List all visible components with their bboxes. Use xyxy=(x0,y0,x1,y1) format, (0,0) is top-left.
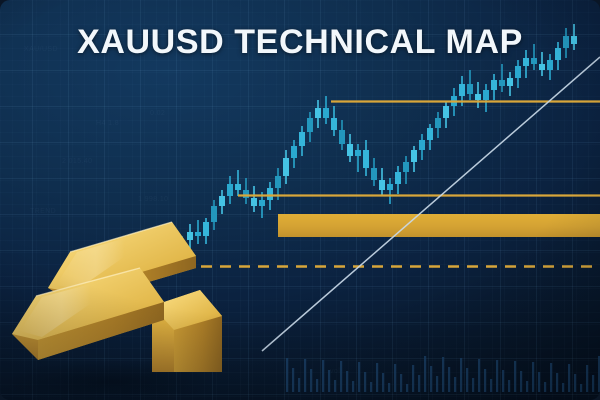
candle-body xyxy=(491,80,497,90)
volume-bar xyxy=(466,368,468,392)
candle-body xyxy=(339,130,345,144)
volume-bar xyxy=(346,371,348,392)
candle-body xyxy=(371,168,377,180)
candle-body xyxy=(227,184,233,196)
candle-body xyxy=(259,200,265,206)
volume-bar xyxy=(442,357,444,392)
volume-bar xyxy=(580,384,582,392)
volume-bar xyxy=(538,372,540,392)
volume-bar xyxy=(322,360,324,392)
volume-bar xyxy=(406,384,408,392)
candle-body xyxy=(331,118,337,130)
candle-body xyxy=(203,222,209,236)
candle-body xyxy=(475,94,481,100)
candle-body xyxy=(411,150,417,162)
volume-bar xyxy=(424,356,426,392)
volume-bar xyxy=(496,360,498,392)
candle-body xyxy=(483,90,489,100)
volume-bar xyxy=(388,383,390,392)
volume-bar xyxy=(358,362,360,392)
candle-body xyxy=(443,106,449,118)
volume-bar xyxy=(370,382,372,392)
candle-body xyxy=(307,118,313,132)
volume-bar xyxy=(412,365,414,392)
candle-body xyxy=(363,150,369,168)
candle-body xyxy=(267,188,273,200)
volume-bar xyxy=(502,370,504,392)
volume-bar xyxy=(532,362,534,392)
volume-bar xyxy=(436,376,438,392)
volume-bar xyxy=(304,359,306,392)
volume-bar xyxy=(394,364,396,392)
volume-bar xyxy=(586,365,588,392)
candle-body xyxy=(275,176,281,188)
volume-bar xyxy=(484,369,486,392)
candle-body xyxy=(419,140,425,150)
candle-body xyxy=(499,80,505,86)
volume-bar xyxy=(298,378,300,392)
volume-bar xyxy=(592,375,594,392)
volume-bar xyxy=(478,359,480,392)
candle-body xyxy=(315,108,321,118)
demand-zone[interactable] xyxy=(278,214,600,237)
volume-bar xyxy=(562,383,564,392)
volume-bar xyxy=(550,363,552,392)
volume-bar xyxy=(568,364,570,392)
candle-body xyxy=(283,158,289,176)
page-title: XAUUSD TECHNICAL MAP xyxy=(0,22,600,62)
volume-bar xyxy=(556,373,558,392)
candle-body xyxy=(387,184,393,190)
candle-body xyxy=(219,196,225,206)
volume-bar xyxy=(328,370,330,392)
candle-body xyxy=(211,206,217,222)
candle-body xyxy=(347,144,353,156)
candle-body xyxy=(539,64,545,70)
volume-bar xyxy=(454,377,456,392)
candle-body xyxy=(195,232,201,236)
gold-bar-left xyxy=(12,268,164,360)
candle-body xyxy=(291,146,297,158)
volume-bar xyxy=(316,379,318,392)
candle-body xyxy=(459,84,465,96)
volume-bar xyxy=(514,361,516,392)
volume-bar xyxy=(286,358,288,392)
candle-body xyxy=(379,180,385,190)
volume-bar xyxy=(352,381,354,392)
volume-bar xyxy=(292,368,294,392)
candle-body xyxy=(187,232,193,240)
volume-bar xyxy=(382,373,384,392)
candle-body xyxy=(355,150,361,156)
volume-bar xyxy=(520,371,522,392)
volume-bar xyxy=(574,374,576,392)
candle-body xyxy=(299,132,305,146)
candle-body xyxy=(467,84,473,94)
volume-bar xyxy=(310,369,312,392)
volume-bar xyxy=(490,379,492,392)
volume-bar xyxy=(340,361,342,392)
candle-body xyxy=(235,184,241,190)
volume-bar xyxy=(544,382,546,392)
volume-bar xyxy=(400,374,402,392)
volume-bar xyxy=(364,372,366,392)
volume-bar xyxy=(526,381,528,392)
candle-body xyxy=(427,128,433,140)
technical-map-card: XAU/USD H4 1.8 2 015.40 0.02 1 998.10 TR… xyxy=(0,0,600,400)
volume-bar xyxy=(508,380,510,392)
candle-body xyxy=(507,78,513,86)
candle-body xyxy=(435,118,441,128)
candle-body xyxy=(251,198,257,206)
candle-body xyxy=(323,108,329,118)
volume-bar xyxy=(418,375,420,392)
candle-body xyxy=(243,190,249,198)
candle-body xyxy=(403,162,409,172)
volume-bar xyxy=(376,363,378,392)
volume-bar xyxy=(448,367,450,392)
volume-bar xyxy=(472,378,474,392)
candle-body xyxy=(395,172,401,184)
volume-bars xyxy=(286,356,600,392)
gold-bullion-bars xyxy=(4,222,222,400)
volume-bar xyxy=(430,366,432,392)
volume-bar xyxy=(334,380,336,392)
candle-body xyxy=(515,66,521,78)
volume-bar xyxy=(460,358,462,392)
